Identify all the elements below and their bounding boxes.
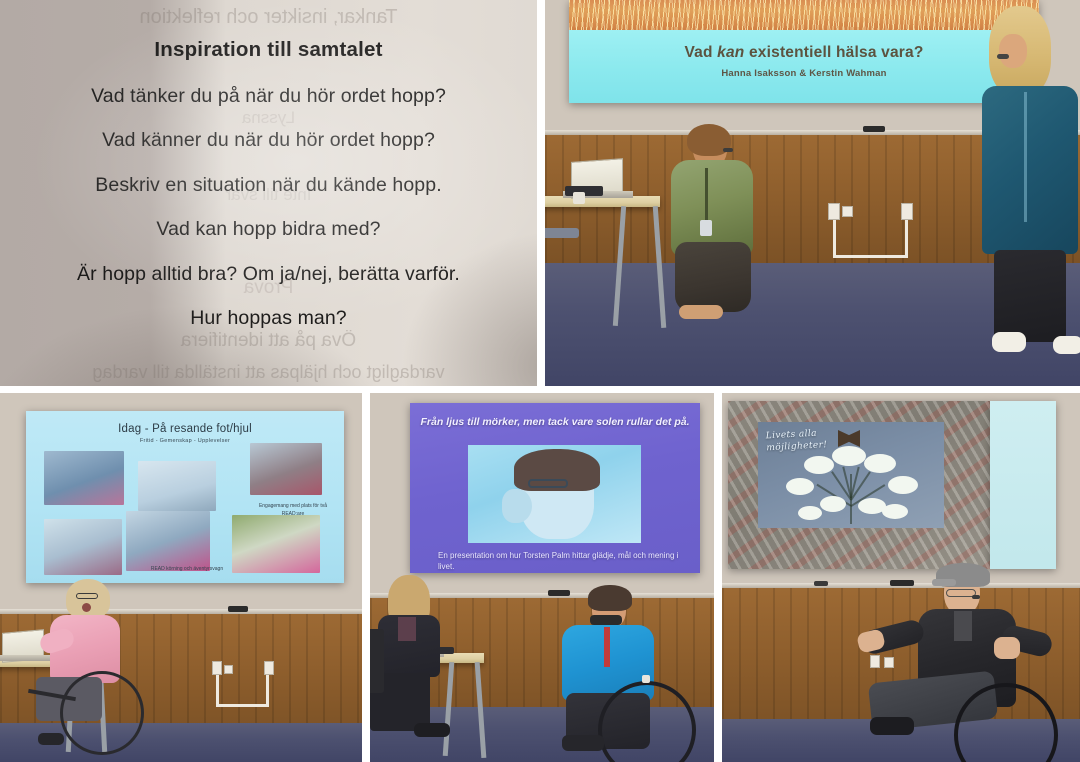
slide-title-part1: Vad <box>684 44 717 61</box>
hair <box>588 585 632 611</box>
laptop-base <box>0 655 54 661</box>
open-mouth <box>82 603 91 612</box>
flower-bloom <box>804 456 834 474</box>
cup <box>573 192 585 204</box>
shoe <box>562 735 604 751</box>
blonde-hair <box>66 579 110 619</box>
panel-two-presenters: Vad kan existentiell hälsa vara? Hanna I… <box>545 0 1080 386</box>
shoe <box>870 717 914 735</box>
wall-outlet <box>224 665 233 674</box>
lanyard <box>705 168 708 222</box>
wall-outlet <box>264 661 274 675</box>
slide-portrait-photo <box>468 445 641 543</box>
projection-screen-possibilities: Livets alla möjligheter! <box>728 401 990 569</box>
white-shoe <box>1053 336 1080 354</box>
chair <box>370 629 384 693</box>
slide-header-grass-image <box>569 0 1039 30</box>
whiteboard-sensor <box>890 580 914 586</box>
headset-mic <box>590 615 622 625</box>
wall-outlet <box>212 661 222 675</box>
slide-cyan-band <box>569 30 1039 103</box>
slide-title-torsten: Från ljus till mörker, men tack vare sol… <box>420 416 690 429</box>
shoe <box>38 733 64 745</box>
trousers <box>675 242 751 312</box>
conduit-pipe <box>833 220 836 258</box>
slide-title-travel: Idag - På resande fot/hjul <box>26 423 344 435</box>
slide-caption-right: Engagemang med plats för två READ:are <box>248 503 338 518</box>
whiteboard-sensor <box>228 606 248 612</box>
whiteboard-sensor <box>548 590 570 596</box>
slide-subtitle-authors: Hanna Isaksson & Kerstin Wahman <box>569 68 1039 79</box>
chair <box>545 228 579 238</box>
slide-photo <box>138 461 216 511</box>
headset-mic <box>997 54 1009 59</box>
cap-brim <box>932 579 956 586</box>
flower-bloom <box>888 476 918 494</box>
conduit-pipe <box>266 675 269 707</box>
conduit-pipe <box>216 704 268 707</box>
whiteboard-sensor <box>863 126 885 132</box>
lanyard <box>604 627 610 667</box>
conduit-pipe <box>833 255 908 258</box>
conduit-pipe <box>216 675 219 707</box>
inner-top <box>398 617 416 641</box>
flower-bloom <box>832 446 866 466</box>
slide-photo <box>250 443 322 495</box>
portrait-glasses <box>528 479 568 488</box>
panel-printed-inspiration-sheet: Tankar, insikter och reflektion Lyssna I… <box>0 0 537 386</box>
wall-outlet <box>901 203 913 220</box>
right-hand <box>994 637 1020 659</box>
conduit-pipe <box>905 220 908 258</box>
slide-title-existential-health: Vad kan existentiell hälsa vara? <box>569 44 1039 62</box>
portrait-hand <box>502 489 532 523</box>
slide-photo <box>126 511 210 571</box>
projection-screen-torsten: Från ljus till mörker, men tack vare sol… <box>410 403 700 573</box>
panel-travel-presentation: Idag - På resande fot/hjul Fritid - Geme… <box>0 393 362 762</box>
slide-inner-photo: Livets alla möjligheter! <box>758 422 944 528</box>
wheelchair-wheel <box>60 671 144 755</box>
blue-dress <box>982 86 1078 254</box>
headset-mic <box>723 148 733 152</box>
glasses <box>76 593 98 599</box>
slide-caption-bottom: READ körning och äventyrsvagn <box>122 566 252 572</box>
photo-collage: Tankar, insikter och reflektion Lyssna I… <box>0 0 1080 762</box>
wall-outlet <box>870 655 880 668</box>
slide-title-part2: existentiell hälsa vara? <box>744 44 923 61</box>
flower-bloom <box>798 506 822 520</box>
wall-outlet <box>842 206 853 217</box>
whiteboard-sensor <box>814 581 828 586</box>
shoe <box>414 723 450 737</box>
projection-screen-blank-area <box>990 401 1056 569</box>
id-badge <box>700 220 712 236</box>
flower-bloom <box>864 454 896 473</box>
headset-mic <box>972 595 980 599</box>
inner-collar <box>954 611 972 641</box>
slide-photo <box>44 519 122 575</box>
wall-outlet <box>884 657 894 668</box>
black-trousers <box>994 250 1066 342</box>
flower-bloom <box>820 496 846 512</box>
panel-possibilities-presentation: Livets alla möjligheter! <box>722 393 1080 762</box>
flower-bloom <box>882 504 908 519</box>
wall-outlet <box>828 203 840 220</box>
paper-shadow-overlay <box>0 0 537 386</box>
slide-photo <box>232 515 320 573</box>
slide-subtitle-torsten: En presentation om hur Torsten Palm hitt… <box>438 551 688 573</box>
bare-foot <box>679 305 723 319</box>
panel-torsten-presentation: Från ljus till mörker, men tack vare sol… <box>370 393 714 762</box>
projection-screen-travel: Idag - På resande fot/hjul Fritid - Geme… <box>26 411 344 583</box>
dress-zip <box>1024 92 1027 222</box>
white-shoe <box>992 332 1026 352</box>
flower-bloom <box>786 478 814 495</box>
wheelchair-label <box>642 675 650 683</box>
slide-photo <box>44 451 124 505</box>
slide-title-emphasis: kan <box>717 44 744 61</box>
face <box>999 34 1027 68</box>
